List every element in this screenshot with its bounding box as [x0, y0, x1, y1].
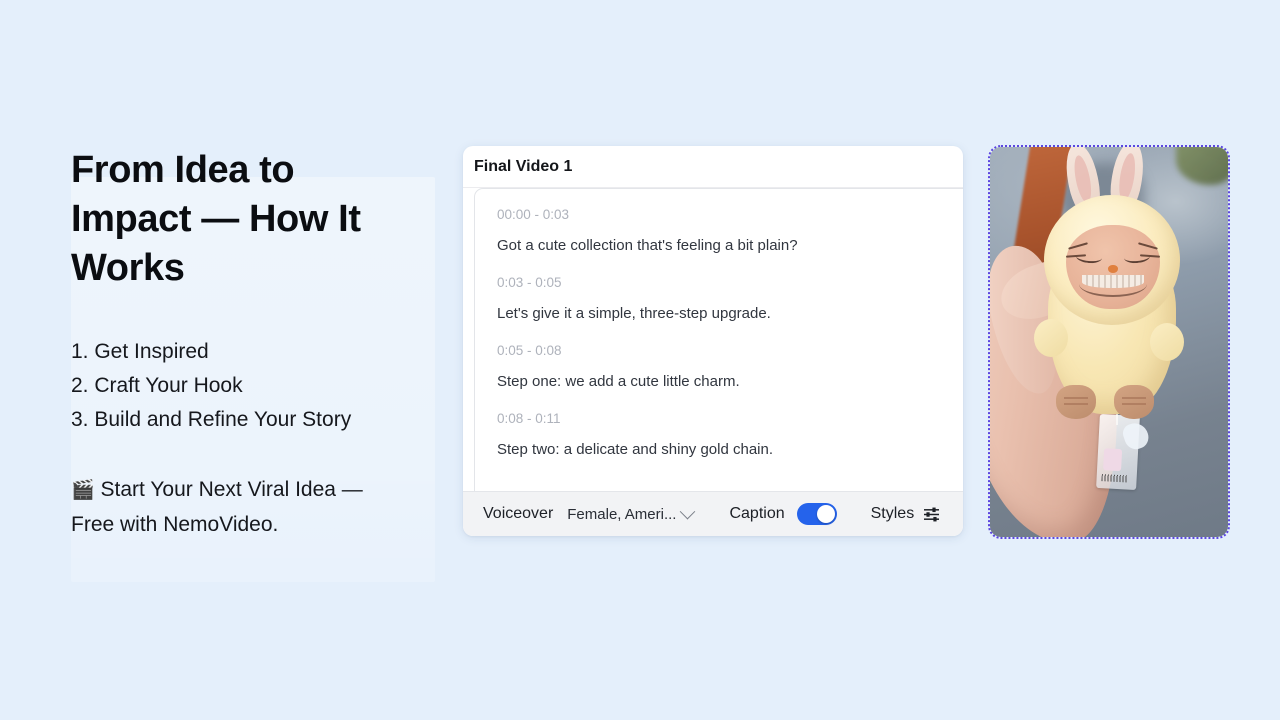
slide-canvas: From Idea to Impact — How It Works 1. Ge… — [0, 0, 1280, 720]
plush-paw-right — [1150, 323, 1184, 361]
plush-mouth — [1079, 271, 1147, 297]
page-title: From Idea to Impact — How It Works — [71, 146, 401, 293]
voice-select-value: Female, Ameri... — [567, 506, 676, 523]
plush-foot-right — [1114, 385, 1154, 419]
styles-button[interactable]: Styles — [871, 505, 941, 523]
steps-list: 1. Get Inspired 2. Craft Your Hook 3. Bu… — [71, 335, 471, 437]
script-segment[interactable]: 0:03 - 0:05 Let's give it a simple, thre… — [497, 274, 958, 324]
list-item: 3. Build and Refine Your Story — [71, 403, 471, 437]
script-scroll-box[interactable]: 00:00 - 0:03 Got a cute collection that'… — [474, 188, 963, 491]
segment-timestamp: 0:03 - 0:05 — [497, 274, 958, 292]
cta-label: Start Your Next Viral Idea — Free with N… — [71, 478, 363, 536]
tag-barcode — [1101, 474, 1127, 482]
plush-face — [1066, 225, 1160, 309]
segment-timestamp: 0:05 - 0:08 — [497, 342, 958, 360]
segment-text: Got a cute collection that's feeling a b… — [497, 236, 958, 256]
script-segment[interactable]: 0:05 - 0:08 Step one: we add a cute litt… — [497, 342, 958, 392]
final-video-card: Final Video 1 00:00 - 0:03 Got a cute co… — [463, 146, 963, 536]
left-content-column: From Idea to Impact — How It Works 1. Ge… — [71, 146, 471, 542]
caption-toggle[interactable] — [797, 503, 837, 525]
script-area: 00:00 - 0:03 Got a cute collection that'… — [463, 188, 963, 491]
voice-select-dropdown[interactable]: Female, Ameri... — [567, 506, 693, 523]
segment-timestamp: 00:00 - 0:03 — [497, 206, 958, 224]
segment-timestamp: 0:08 - 0:11 — [497, 410, 958, 428]
segment-text: Step two: a delicate and shiny gold chai… — [497, 440, 958, 460]
card-toolbar: Voiceover Female, Ameri... Caption Style… — [463, 491, 963, 536]
script-segment[interactable]: 0:08 - 0:11 Step two: a delicate and shi… — [497, 410, 958, 460]
plush-toy-photo — [990, 147, 1228, 537]
list-item: 1. Get Inspired — [71, 335, 471, 369]
caption-label: Caption — [729, 505, 784, 523]
plush-eye-right — [1124, 250, 1151, 264]
sliders-icon — [923, 507, 940, 522]
chevron-down-icon — [680, 503, 696, 519]
clapperboard-icon: 🎬 — [71, 480, 95, 501]
plush-foot-left — [1056, 385, 1096, 419]
list-item: 2. Craft Your Hook — [71, 369, 471, 403]
styles-label: Styles — [871, 505, 915, 523]
script-segment[interactable]: 00:00 - 0:03 Got a cute collection that'… — [497, 206, 958, 256]
plush-paw-left — [1034, 319, 1068, 357]
video-preview-frame[interactable] — [988, 145, 1230, 539]
segment-text: Step one: we add a cute little charm. — [497, 372, 958, 392]
tag-sticker — [1103, 448, 1122, 471]
plush-eye-left — [1076, 250, 1103, 264]
card-title: Final Video 1 — [474, 158, 572, 176]
card-header: Final Video 1 — [463, 146, 963, 188]
segment-text: Let's give it a simple, three-step upgra… — [497, 304, 958, 324]
toggle-knob — [817, 505, 835, 523]
cta-text: 🎬 Start Your Next Viral Idea — Free with… — [71, 473, 411, 542]
voiceover-label: Voiceover — [483, 505, 553, 523]
